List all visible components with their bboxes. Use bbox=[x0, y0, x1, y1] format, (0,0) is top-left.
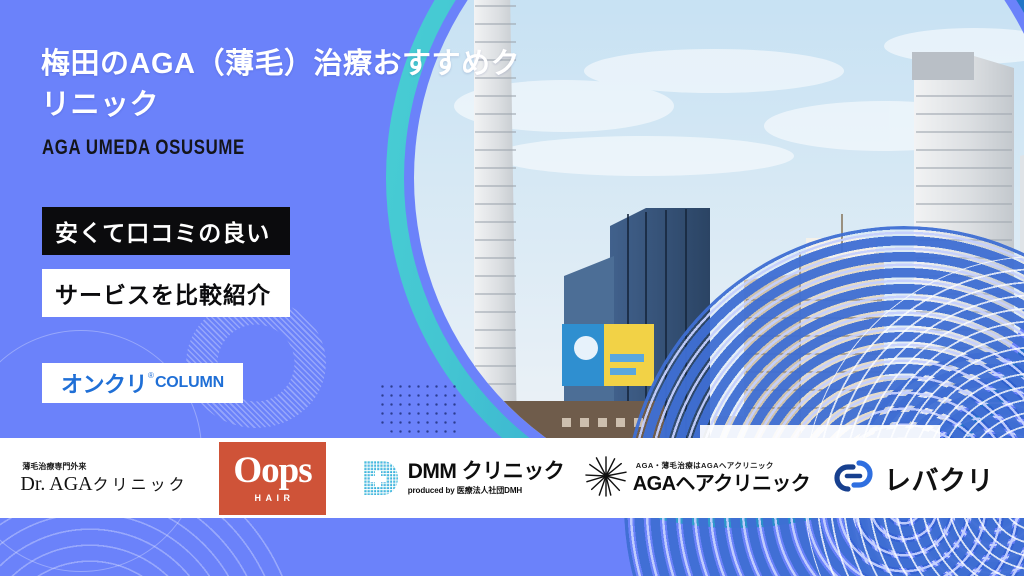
tagline-light-text: サービスを比較紹介 bbox=[55, 276, 271, 310]
brand-word-column: COLUMN bbox=[155, 374, 224, 392]
brand-badge[interactable]: オンクリ ® COLUMN bbox=[42, 363, 243, 403]
oops-name: Oops bbox=[233, 453, 311, 488]
starburst-icon bbox=[585, 455, 627, 502]
dr-aga-name-kana: クリニック bbox=[93, 477, 188, 494]
aga-hair-tagline: AGA・薄毛治療はAGAヘアクリニック bbox=[636, 462, 774, 470]
logo-levacli[interactable]: レバクリ bbox=[815, 438, 1010, 518]
tagline-light: サービスを比較紹介 bbox=[42, 269, 290, 317]
brand-name-jp: オンクリ bbox=[61, 367, 147, 399]
arc-stripes-bottom-right-secondary bbox=[804, 256, 1024, 576]
chain-link-icon bbox=[831, 459, 875, 498]
page-subtitle-romaji: AGA UMEDA OSUSUME bbox=[42, 136, 245, 160]
strip-sliver bbox=[700, 425, 940, 438]
partner-logo-strip: 薄毛治療専門外来 Dr. AGAクリニック Oops HAIR bbox=[0, 438, 1024, 518]
dmm-d-cross-icon bbox=[361, 458, 401, 498]
logo-oops-hair[interactable]: Oops HAIR bbox=[200, 438, 345, 518]
dmm-sub: produced by 医療法人社団DMH bbox=[408, 487, 565, 495]
dr-aga-name-latin: Dr. AGA bbox=[20, 473, 92, 495]
hero-banner: 梅田のAGA（薄毛）治療おすすめクリニック AGA UMEDA OSUSUME … bbox=[0, 0, 1024, 576]
tagline-dark-text: 安くて口コミの良い bbox=[55, 214, 270, 248]
logo-dr-aga-clinic[interactable]: 薄毛治療専門外来 Dr. AGAクリニック bbox=[0, 438, 200, 518]
arc-stripes-bottom-right bbox=[624, 226, 1024, 576]
dot-grid-decoration bbox=[378, 382, 462, 440]
logo-dmm-clinic[interactable]: DMM クリニック produced by 医療法人社団DMH bbox=[345, 438, 580, 518]
dmm-name: DMM クリニック bbox=[408, 461, 565, 482]
page-title: 梅田のAGA（薄毛）治療おすすめクリニック bbox=[41, 44, 541, 126]
oops-sub: HAIR bbox=[255, 493, 295, 503]
tagline-dark: 安くて口コミの良い bbox=[42, 207, 290, 255]
aga-hair-name: AGAヘアクリニック bbox=[633, 474, 810, 494]
levacli-name: レバクリ bbox=[884, 459, 994, 498]
dr-aga-tagline: 薄毛治療専門外来 bbox=[22, 463, 86, 471]
logo-aga-hair-clinic[interactable]: AGA・薄毛治療はAGAヘアクリニック AGAヘアクリニック bbox=[580, 438, 815, 518]
registered-trademark-icon: ® bbox=[148, 372, 154, 380]
